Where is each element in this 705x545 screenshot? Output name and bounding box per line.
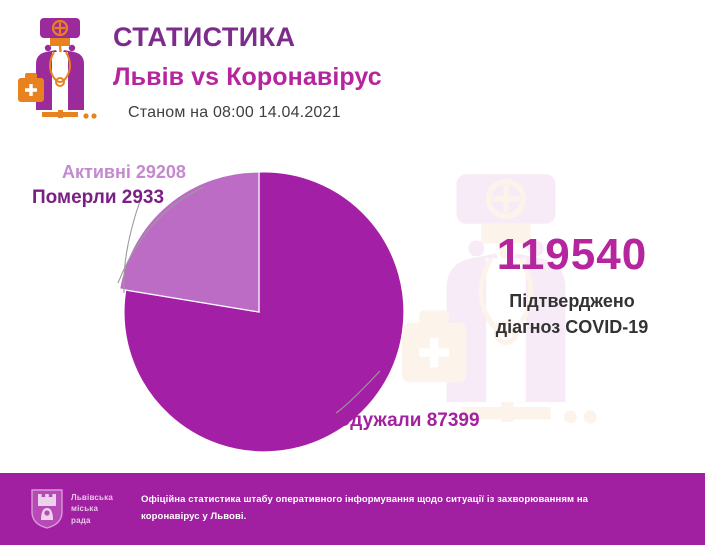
footer-logo-text: Львівська міська рада [71, 492, 113, 527]
header-text-block: СТАТИСТИКА Львів vs Коронавірус Станом н… [113, 22, 533, 122]
footer-bar: Львівська міська рада Офіційна статистик… [0, 473, 705, 545]
confirmed-cases-number: 119540 [448, 232, 696, 278]
footer-description: Офіційна статистика штабу оперативного і… [141, 492, 621, 525]
page-title: СТАТИСТИКА [113, 22, 533, 53]
confirmed-caption-line2: діагноз COVID-19 [448, 314, 696, 340]
confirmed-cases-block: 119540 Підтверджено діагноз COVID-19 [448, 232, 696, 340]
pie-label-recovered: Одужали 87399 [336, 410, 480, 432]
footer-logo-line1: Львівська [71, 492, 113, 504]
report-timestamp: Станом на 08:00 14.04.2021 [128, 104, 533, 122]
infographic-page: СТАТИСТИКА Львів vs Коронавірус Станом н… [0, 0, 705, 545]
footer-logo-group: Львівська міська рада [30, 488, 113, 530]
doctor-icon [14, 16, 106, 124]
footer-logo-line3: рада [71, 515, 113, 527]
confirmed-cases-caption: Підтверджено діагноз COVID-19 [448, 288, 696, 340]
footer-logo-line2: міська [71, 503, 113, 515]
confirmed-caption-line1: Підтверджено [448, 288, 696, 314]
pie-label-active: Активні 29208 [62, 162, 186, 183]
pie-label-died: Померли 2933 [32, 187, 164, 209]
page-subtitle: Львів vs Коронавірус [113, 61, 533, 94]
lviv-city-council-logo-icon [30, 488, 64, 530]
